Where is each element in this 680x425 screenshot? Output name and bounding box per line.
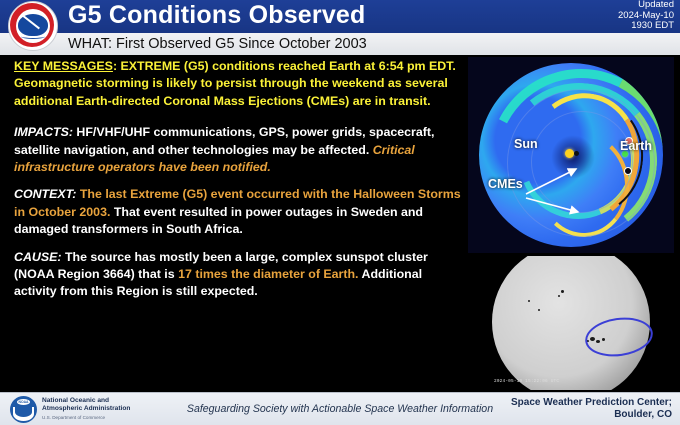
key-messages-lead: KEY MESSAGES [14,59,113,73]
header-bar: G5 Conditions Observed Updated 2024-May-… [0,0,680,33]
updated-label: Updated [570,0,674,11]
label-earth: Earth [620,139,652,153]
sunspot-small-b [558,295,560,297]
updated-stamp: Updated 2024-May-10 1930 EDT [570,0,674,32]
key-messages-sep: : [113,59,121,73]
body-text-column: KEY MESSAGES: EXTREME (G5) conditions re… [14,58,466,311]
cause-highlight: 17 times the diameter of Earth. [178,267,358,281]
impacts-text: HF/VHF/UHF communications, GPS, power gr… [14,125,434,156]
page-title: G5 Conditions Observed [68,1,366,30]
prediction-center-name: Space Weather Prediction Center; Boulder… [511,397,672,422]
updated-time: 1930 EDT [570,21,674,32]
footer-bar: NOAA National Oceanic and Atmospheric Ad… [0,392,680,425]
context-lead: CONTEXT: [14,187,76,201]
solar-disk-image: 2024-05-10 15:22:06 UTC [468,256,674,390]
sunspot-small-c [528,300,530,302]
solar-image-timestamp: 2024-05-10 15:22:06 UTC [494,379,559,384]
slide-root: G5 Conditions Observed Updated 2024-May-… [0,0,680,425]
paragraph-context: CONTEXT: The last Extreme (G5) event occ… [14,186,466,238]
label-sun: Sun [514,137,538,151]
subtitle-bar: WHAT: First Observed G5 Since October 20… [0,33,680,56]
sunspot-small-d [538,309,540,311]
cme-pointer-arrows [468,57,674,253]
sunspot-small-a [561,290,564,293]
cause-lead: CAUSE: [14,250,62,264]
seal-inner [16,9,50,43]
center-line1: Space Weather Prediction Center; [511,397,672,409]
paragraph-impacts: IMPACTS: HF/VHF/UHF communications, GPS,… [14,124,466,176]
enlil-model-image: Sun Earth CMEs [468,57,674,253]
impacts-lead: IMPACTS: [14,125,73,139]
paragraph-key-messages: KEY MESSAGES: EXTREME (G5) conditions re… [14,58,466,110]
label-cmes: CMEs [488,177,523,191]
seal-wave [21,34,45,39]
center-line2: Boulder, CO [511,409,672,421]
seal-ring [10,3,54,47]
nws-seal-icon [8,1,58,51]
subtitle-text: WHAT: First Observed G5 Since October 20… [68,36,367,52]
paragraph-cause: CAUSE: The source has mostly been a larg… [14,249,466,301]
